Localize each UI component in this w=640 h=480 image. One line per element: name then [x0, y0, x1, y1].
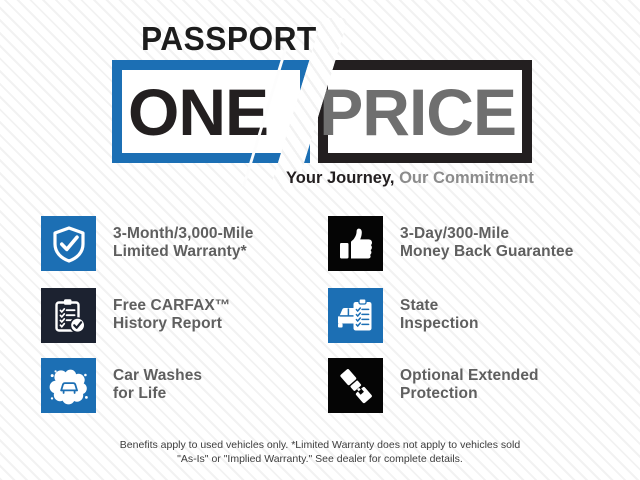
- seatbelt-buckle-icon: [328, 358, 383, 413]
- benefit-item-state-inspection: State Inspection: [328, 288, 611, 358]
- brand-wordmark: PASSPORT: [141, 22, 317, 56]
- tagline-light: Our Commitment: [395, 169, 534, 187]
- car-wash-icon: [41, 358, 96, 413]
- one-badge: ONE: [112, 60, 310, 163]
- benefit-label: State Inspection: [400, 288, 479, 333]
- car-clipboard-icon: [328, 288, 383, 343]
- thumbs-up-icon: [328, 216, 383, 271]
- benefit-item-limited-warranty: 3-Month/3,000-Mile Limited Warranty*: [41, 216, 328, 288]
- clipboard-check-icon: [41, 288, 96, 343]
- benefit-item-carfax-report: Free CARFAX™ History Report: [41, 288, 328, 358]
- benefit-item-money-back: 3-Day/300-Mile Money Back Guarantee: [328, 216, 611, 288]
- price-badge-inner: PRICE: [326, 68, 524, 155]
- benefit-label: Optional Extended Protection: [400, 358, 539, 403]
- one-word: ONE: [128, 79, 268, 145]
- price-badge: PRICE: [318, 60, 532, 163]
- passport-one-price-logo: ONE PRICE PASSPORT Your Journey, Our Com…: [0, 0, 640, 200]
- tagline-bold: Your Journey,: [286, 169, 395, 187]
- benefit-label: 3-Month/3,000-Mile Limited Warranty*: [113, 216, 253, 261]
- tagline: Your Journey, Our Commitment: [286, 168, 534, 188]
- price-word: PRICE: [319, 79, 516, 145]
- benefit-label: Free CARFAX™ History Report: [113, 288, 230, 333]
- disclaimer-text: Benefits apply to used vehicles only. *L…: [0, 438, 640, 466]
- benefit-item-extended-protection: Optional Extended Protection: [328, 358, 611, 428]
- benefits-grid: 3-Month/3,000-Mile Limited Warranty* 3-D…: [41, 216, 611, 428]
- one-price-promo-graphic: ONE PRICE PASSPORT Your Journey, Our Com…: [0, 0, 640, 480]
- shield-check-icon: [41, 216, 96, 271]
- benefit-item-car-washes: Car Washes for Life: [41, 358, 328, 428]
- benefit-label: 3-Day/300-Mile Money Back Guarantee: [400, 216, 573, 261]
- benefit-label: Car Washes for Life: [113, 358, 202, 403]
